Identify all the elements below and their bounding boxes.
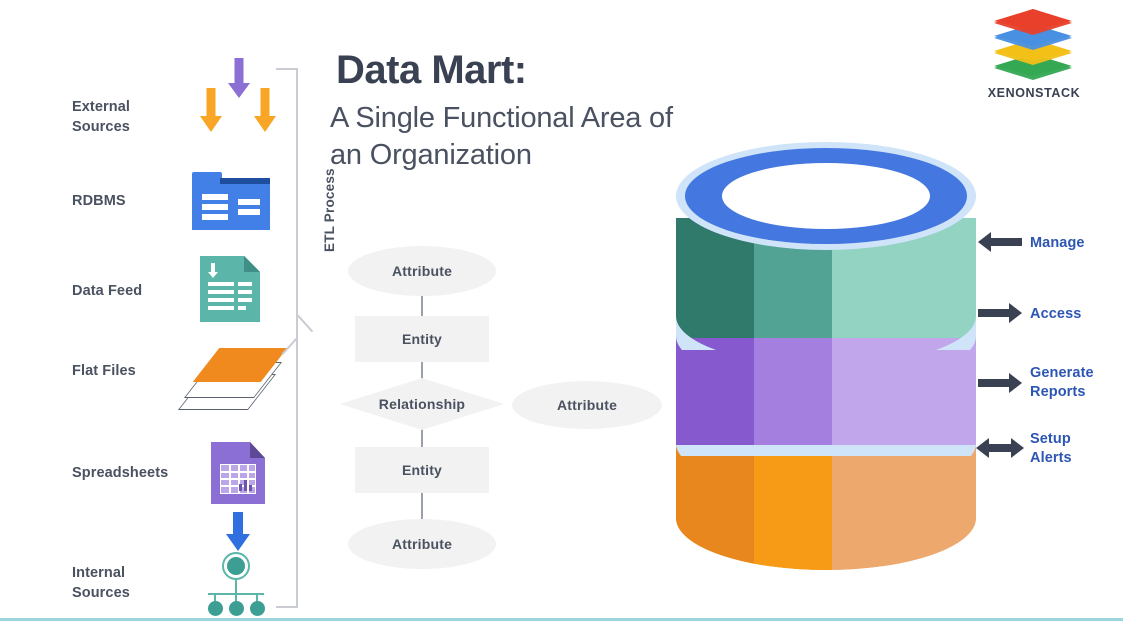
cylinder-top-hole [722, 163, 930, 229]
arrow-right-icon [978, 373, 1022, 393]
er-node-attribute-bottom[interactable]: Attribute [348, 519, 496, 569]
action-label-generate-reports[interactable]: Generate Reports [1030, 364, 1094, 402]
source-label-line1: Flat Files [72, 362, 136, 382]
page-subtitle-line2: an Organization [330, 137, 673, 174]
action-label-line1: Generate [1030, 364, 1094, 383]
page-subtitle: A Single Functional Area of an Organizat… [330, 100, 673, 174]
arrow-orange-left-icon [198, 88, 224, 132]
source-label-line1: Data Feed [72, 282, 142, 302]
source-label-line1: Internal [72, 564, 130, 584]
page-subtitle-line1: A Single Functional Area of [330, 100, 673, 137]
arrow-left-icon [978, 232, 1022, 252]
arrow-purple-icon [226, 58, 252, 98]
arrow-right-icon [978, 303, 1022, 323]
er-node-entity-top[interactable]: Entity [355, 316, 489, 362]
er-node-label: Attribute [392, 263, 452, 279]
source-label-line1: Spreadsheets [72, 464, 168, 484]
source-label-line1: External [72, 98, 130, 118]
action-label-line2: Reports [1030, 383, 1094, 402]
action-label-setup-alerts[interactable]: Setup Alerts [1030, 430, 1072, 468]
source-label-line1: RDBMS [72, 192, 126, 212]
er-node-attribute-right[interactable]: Attribute [512, 381, 662, 429]
arrow-both-icon [976, 438, 1024, 458]
page-title: Data Mart: [336, 48, 527, 93]
arrow-down-blue-icon [226, 512, 250, 552]
action-label-access[interactable]: Access [1030, 305, 1081, 324]
etl-bracket [278, 64, 312, 612]
source-label-line2: Sources [72, 584, 130, 604]
er-node-label: Entity [402, 331, 442, 347]
er-node-label: Attribute [392, 536, 452, 552]
er-connector [421, 490, 423, 520]
stacked-sheets-icon [186, 348, 282, 410]
bottom-divider [0, 618, 1123, 621]
database-folder-icon [192, 172, 270, 230]
data-mart-cylinder-icon [676, 138, 976, 608]
action-label-line1: Setup [1030, 430, 1072, 449]
feed-document-icon [200, 256, 260, 322]
etl-process-label: ETL Process [322, 132, 337, 252]
source-label-internal-sources: Internal Sources [72, 564, 130, 603]
action-label-manage[interactable]: Manage [1030, 234, 1085, 253]
er-node-label: Attribute [557, 397, 617, 413]
source-label-data-feed: Data Feed [72, 282, 142, 302]
action-label-line1: Manage [1030, 234, 1085, 253]
brand-name: XENONSTACK [976, 86, 1092, 100]
source-label-rdbms: RDBMS [72, 192, 126, 212]
xenonstack-logo-icon [992, 8, 1074, 74]
arrow-orange-right-icon [252, 88, 278, 132]
er-node-label: Entity [402, 462, 442, 478]
action-label-line2: Alerts [1030, 449, 1072, 468]
er-node-label: Relationship [379, 396, 465, 412]
cylinder-svg [676, 138, 976, 608]
er-node-attribute-top[interactable]: Attribute [348, 246, 496, 296]
source-label-spreadsheets: Spreadsheets [72, 464, 168, 484]
er-node-entity-bottom[interactable]: Entity [355, 447, 489, 493]
source-label-external-sources: External Sources [72, 98, 130, 137]
action-label-line1: Access [1030, 305, 1081, 324]
source-label-line2: Sources [72, 118, 130, 138]
spreadsheet-document-icon [211, 442, 265, 504]
down-arrows-icon [196, 58, 282, 140]
er-node-relationship[interactable]: Relationship [340, 378, 504, 430]
source-label-flat-files: Flat Files [72, 362, 136, 382]
network-nodes-icon [200, 552, 274, 614]
diagram-canvas: Data Mart: A Single Functional Area of a… [0, 0, 1123, 622]
logo-layers-icon [992, 8, 1074, 80]
